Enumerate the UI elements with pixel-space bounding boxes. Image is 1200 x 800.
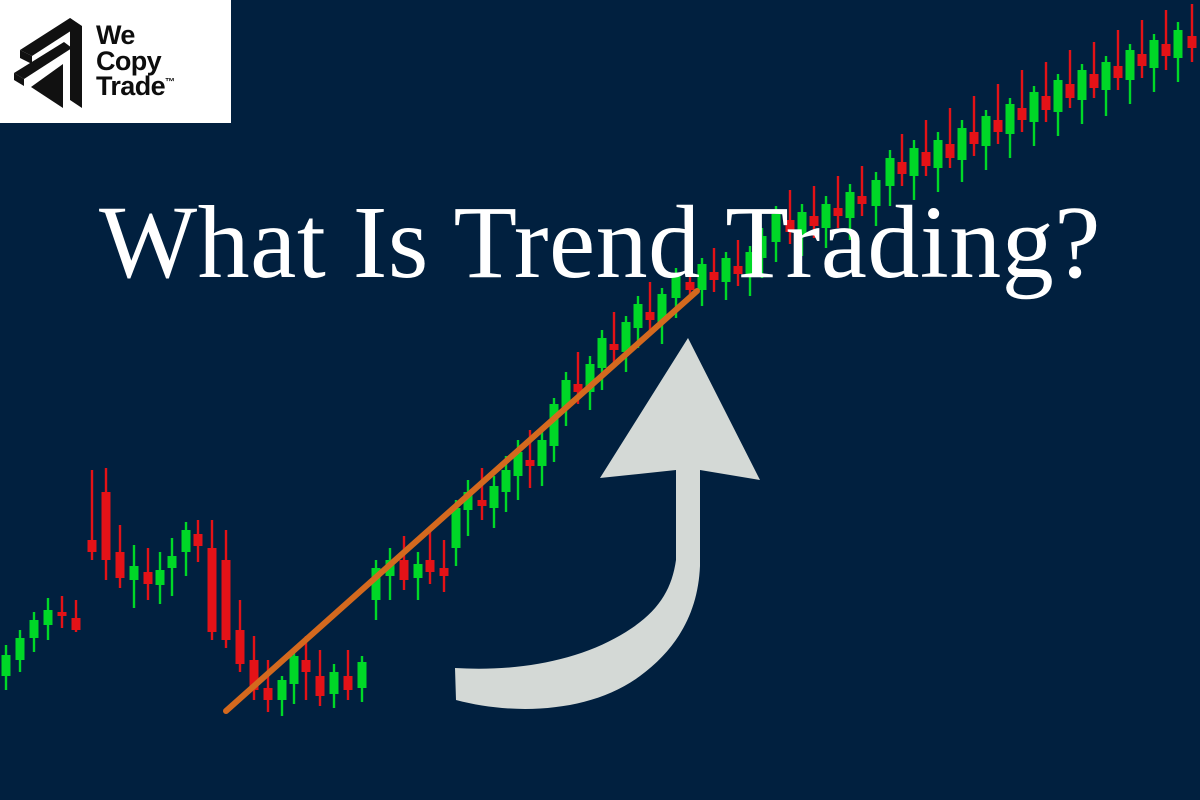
curved-up-arrow-icon xyxy=(455,338,760,709)
brand-logo[interactable]: We Copy Trade™ xyxy=(0,0,231,123)
trademark-symbol: ™ xyxy=(165,77,174,88)
triple-chevron-arrow-logo-mark xyxy=(14,12,88,112)
logo-wordmark: We Copy Trade™ xyxy=(96,23,174,101)
poster-canvas: What Is Trend Trading? We Copy Trade™ xyxy=(0,0,1200,800)
logo-line-trade: Trade™ xyxy=(96,74,174,100)
logo-line-we: We xyxy=(96,23,174,49)
logo-line-trade-text: Trade xyxy=(96,71,165,101)
